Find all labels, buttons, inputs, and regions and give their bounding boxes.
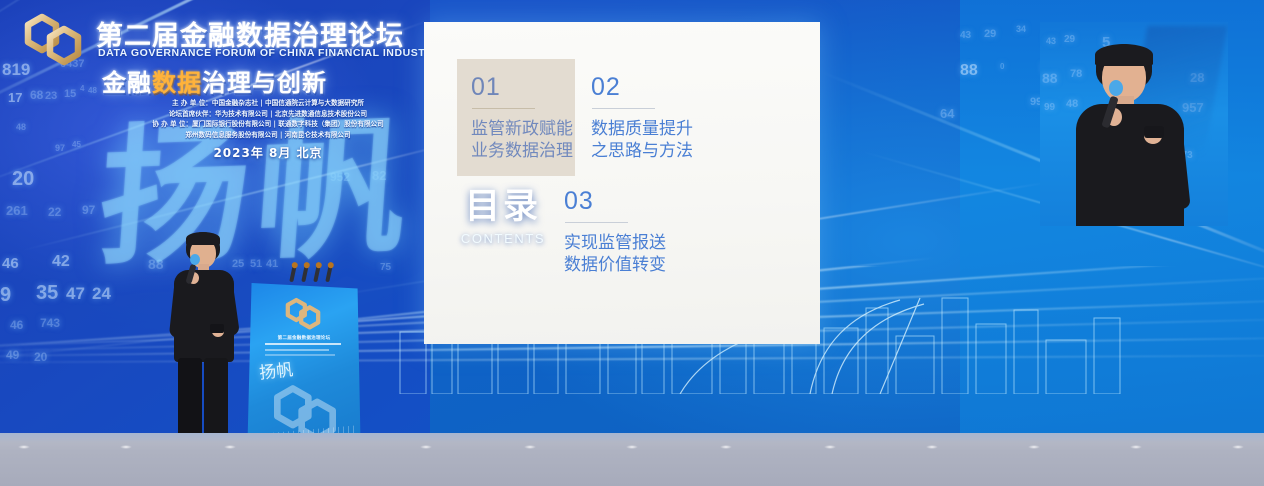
toc-number: 01 <box>471 75 565 100</box>
clicker-device <box>210 324 224 333</box>
toc-number: 03 <box>564 189 666 214</box>
toc-heading-en: CONTENTS <box>453 231 553 246</box>
conference-stage-scene: 819 6437 17 68 23 15 4 48 48 97 45 20 26… <box>0 0 1264 486</box>
clicker-device <box>1144 126 1164 138</box>
organizer-line: 主 办 单 位：中国金融杂志社 | 中国信通院云计算与大数据研究所 <box>118 98 418 109</box>
microphone <box>325 265 332 282</box>
banner-date-location: 2023年 8月 北京 <box>118 144 418 161</box>
toc-rule <box>472 108 535 109</box>
organizer-block: 主 办 单 位：中国金融杂志社 | 中国信通院云计算与大数据研究所 论坛首席伙伴… <box>118 98 418 141</box>
organizer-line: 协 办 单 位：厦门国际银行股份有限公司 | 联通数字科技（集团）股份有限公司 <box>118 119 418 130</box>
podium-calligraphy: 扬帆 <box>258 355 294 383</box>
theme-suffix: 治理与创新 <box>202 69 327 97</box>
speaker-closeup-figure <box>1040 22 1228 226</box>
stage-floor <box>0 433 1264 486</box>
toc-text-line1: 数据质量提升 <box>591 118 693 140</box>
microphone <box>289 265 296 282</box>
banner-theme: 金融数据治理与创新 <box>102 63 327 98</box>
podium-microphones <box>291 265 351 285</box>
toc-heading-cn: 目录 <box>453 178 553 229</box>
toc-item-01: 01 监管新政赋能 业务数据治理 <box>457 59 575 176</box>
organizer-line: 郑州数码信息服务股份有限公司 | 河南昆仑技术有限公司 <box>118 130 418 141</box>
banner-title-en: DATA GOVERNANCE FORUM OF CHINA FINANCIAL… <box>98 47 441 59</box>
toc-rule <box>592 108 655 109</box>
interlocking-hexagon-logo <box>22 12 84 68</box>
forum-banner: 第二届金融数据治理论坛 DATA GOVERNANCE FORUM OF CHI… <box>18 6 418 168</box>
toc-text-line1: 监管新政赋能 <box>471 118 565 140</box>
microphone <box>313 265 320 282</box>
toc-text-line1: 实现监管报送 <box>564 232 666 254</box>
toc-item-03: 03 实现监管报送 数据价值转变 <box>564 189 666 276</box>
theme-highlight: 数据 <box>152 69 202 97</box>
toc-number: 02 <box>591 75 693 100</box>
toc-rule <box>565 222 628 223</box>
microphone <box>301 265 308 282</box>
organizer-line: 论坛首席伙伴：华为技术有限公司 | 北京先进数通信息技术股份公司 <box>118 109 418 120</box>
toc-text-line2: 业务数据治理 <box>471 140 565 162</box>
speaker-closeup-feed: 43 29 5 88 78 28 48 957 99 973 <box>1040 22 1228 226</box>
slide-toc-heading: 目录 CONTENTS <box>453 178 553 246</box>
toc-item-02: 02 数据质量提升 之思路与方法 <box>591 75 693 162</box>
toc-text-line2: 数据价值转变 <box>564 254 666 276</box>
podium-title-text: 第二届金融数据治理论坛 <box>261 335 347 341</box>
toc-text-line2: 之思路与方法 <box>591 140 693 162</box>
theme-prefix: 金融 <box>102 69 152 97</box>
podium-hexagon-logo <box>283 297 323 331</box>
